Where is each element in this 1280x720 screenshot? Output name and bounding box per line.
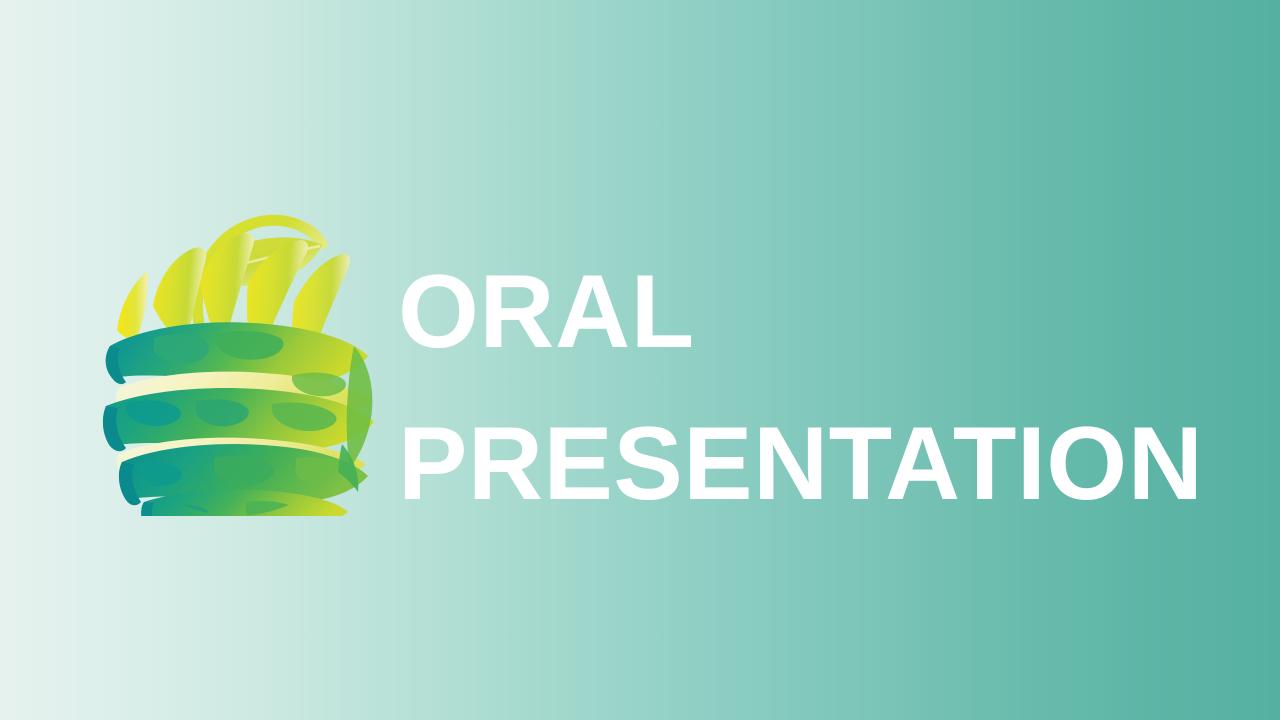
title-block: ORAL PRESENTATION	[398, 236, 1238, 540]
page-title-line-1: ORAL	[398, 236, 1238, 388]
title-slide: ORAL PRESENTATION	[0, 0, 1280, 720]
globe-ribbon-logo	[96, 206, 376, 516]
page-title-line-2: PRESENTATION	[398, 388, 1238, 540]
